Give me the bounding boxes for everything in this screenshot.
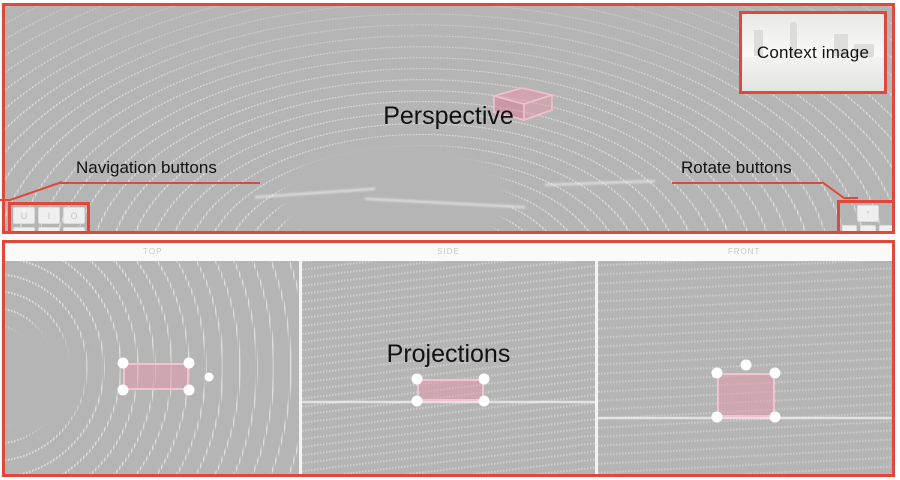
projection-view-front[interactable]: [598, 261, 892, 474]
context-image-panel[interactable]: Context image: [739, 11, 887, 94]
top-view-handle-bl[interactable]: [118, 385, 129, 396]
nav-key-k[interactable]: K: [38, 227, 60, 234]
top-view-bounding-box[interactable]: [123, 363, 189, 390]
callout-rotate-leader: [818, 180, 858, 202]
projection-header-top: TOP: [5, 243, 301, 261]
rotate-buttons-row-top: ↑: [842, 205, 894, 222]
annotation-tool-root: Perspective Context image U I O J K L: [0, 0, 900, 480]
nav-key-u[interactable]: U: [13, 207, 35, 224]
callout-navigation-buttons-label: Navigation buttons: [76, 158, 217, 180]
navigation-buttons-group[interactable]: U I O J K L: [8, 202, 90, 234]
front-view-bounding-box[interactable]: [717, 373, 775, 417]
navigation-buttons-row-top: U I O: [13, 207, 85, 224]
rotate-buttons-group[interactable]: ↑ ← ↓ →: [837, 200, 895, 234]
front-view-handle-tr[interactable]: [770, 368, 781, 379]
callout-rotate-buttons-label: Rotate buttons: [681, 158, 792, 180]
nav-key-j[interactable]: J: [13, 227, 35, 234]
front-view-handle-br[interactable]: [770, 412, 781, 423]
rotate-down-button[interactable]: ↓: [860, 225, 875, 234]
navigation-buttons-row-bottom: J K L: [13, 227, 85, 234]
front-view-ground-line: [598, 417, 892, 419]
rotate-right-button[interactable]: →: [879, 225, 894, 234]
side-view-bounding-box[interactable]: [417, 379, 484, 401]
projection-header-side: SIDE: [301, 243, 597, 261]
side-view-point-dither: [302, 261, 596, 474]
projection-headers: TOP SIDE FRONT: [5, 243, 892, 261]
side-view-handle-tr[interactable]: [478, 374, 489, 385]
front-view-handle-tl[interactable]: [712, 368, 723, 379]
top-view-handle-tr[interactable]: [184, 358, 195, 369]
front-view-handle-bl[interactable]: [712, 412, 723, 423]
side-view-handle-bl[interactable]: [411, 396, 422, 407]
projection-header-front: FRONT: [596, 243, 892, 261]
top-view-heading-handle[interactable]: [205, 373, 214, 382]
projection-view-top[interactable]: [5, 261, 302, 474]
nav-key-i[interactable]: I: [38, 207, 60, 224]
projection-views: [5, 261, 892, 474]
rotate-buttons-row-bottom: ← ↓ →: [842, 225, 894, 234]
side-view-handle-tl[interactable]: [411, 374, 422, 385]
nav-key-o[interactable]: O: [63, 207, 85, 224]
context-image-label: Context image: [742, 43, 884, 63]
side-view-ground-line: [302, 401, 596, 403]
rotate-up-button[interactable]: ↑: [857, 205, 879, 222]
side-view-handle-br[interactable]: [478, 396, 489, 407]
callout-rotate-underline: [672, 182, 822, 184]
front-view-handle-top-center[interactable]: [741, 360, 752, 371]
nav-key-l[interactable]: L: [63, 227, 85, 234]
callout-navigation-underline: [60, 182, 260, 184]
callout-navigation-leader: [0, 180, 70, 202]
rotate-left-button[interactable]: ←: [842, 225, 857, 234]
perspective-label: Perspective: [5, 102, 892, 131]
top-view-handle-tl[interactable]: [118, 358, 129, 369]
top-view-handle-br[interactable]: [184, 385, 195, 396]
perspective-panel[interactable]: Perspective Context image U I O J K L: [2, 3, 895, 234]
projections-panel[interactable]: TOP SIDE FRONT: [2, 240, 895, 477]
projection-view-side[interactable]: [302, 261, 599, 474]
